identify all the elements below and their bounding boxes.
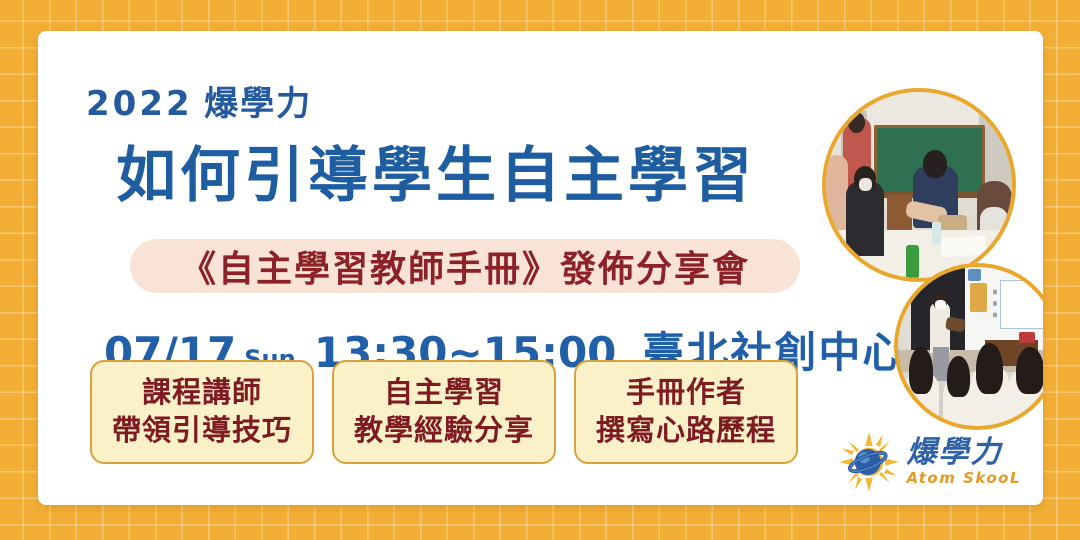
kicker-brand: 爆學力	[204, 85, 312, 123]
scene-classroom-1	[826, 92, 1012, 278]
feature-box-1-line1: 課程講師	[142, 374, 262, 412]
photo-presentation-session-image	[898, 267, 1043, 426]
photo-classroom-workshop-image	[826, 92, 1012, 278]
event-poster: 2022 爆學力 如何引導學生自主學習 《自主學習教師手冊》發佈分享會 07/1…	[0, 0, 1080, 540]
feature-box-2: 自主學習 教學經驗分享	[332, 360, 556, 464]
poster-kicker: 2022 爆學力	[86, 76, 312, 125]
kicker-year: 2022	[86, 84, 193, 124]
feature-box-1: 課程講師 帶領引導技巧	[90, 360, 314, 464]
logo-english-name: Atom SkooL	[906, 471, 1021, 486]
feature-box-3: 手冊作者 撰寫心路歷程	[574, 360, 798, 464]
page-title: 如何引導學生自主學習	[116, 127, 756, 214]
atom-planet-sunburst-icon	[838, 431, 900, 493]
feature-box-2-line1: 自主學習	[384, 374, 504, 412]
feature-box-2-line2: 教學經驗分享	[354, 412, 534, 450]
brand-logo[interactable]: 爆學力 Atom SkooL	[838, 431, 1021, 493]
logo-chinese-name: 爆學力	[906, 438, 1021, 468]
photo-classroom-workshop	[822, 88, 1016, 282]
feature-box-group: 課程講師 帶領引導技巧 自主學習 教學經驗分享 手冊作者 撰寫心路歷程	[90, 360, 798, 464]
subtitle-text: 《自主學習教師手冊》發佈分享會	[180, 240, 750, 292]
subtitle-pill: 《自主學習教師手冊》發佈分享會	[130, 239, 800, 293]
feature-box-3-line1: 手冊作者	[626, 374, 746, 412]
feature-box-3-line2: 撰寫心路歷程	[596, 412, 776, 450]
feature-box-1-line2: 帶領引導技巧	[112, 412, 292, 450]
scene-classroom-2	[898, 267, 1043, 426]
logo-text-block: 爆學力 Atom SkooL	[906, 438, 1021, 486]
poster-card: 2022 爆學力 如何引導學生自主學習 《自主學習教師手冊》發佈分享會 07/1…	[38, 31, 1043, 505]
photo-presentation-session	[894, 263, 1043, 430]
